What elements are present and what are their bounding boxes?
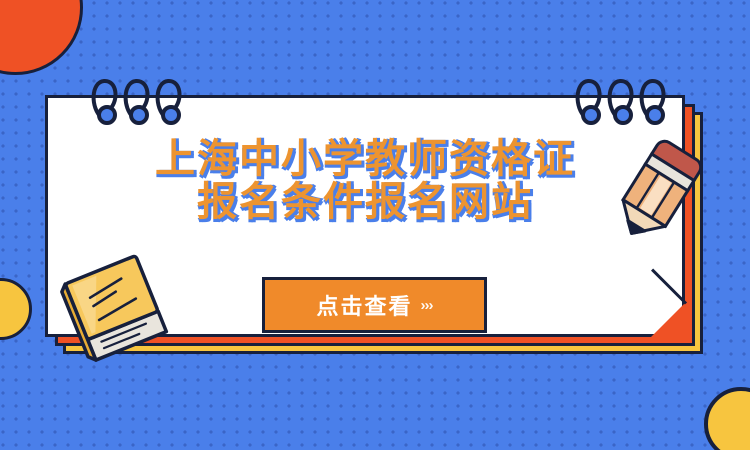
yellow-circle-left-icon (0, 278, 32, 340)
yellow-circle-right-icon (704, 387, 750, 450)
book-icon (58, 252, 178, 369)
spiral-rings-right-icon (572, 62, 672, 139)
view-details-button-label: 点击查看 (316, 289, 412, 321)
promo-poster: 上海中小学教师资格证 报名条件报名网站 点击查看 ››› (0, 0, 750, 450)
folded-corner-line-icon (651, 268, 687, 304)
spiral-rings-left-icon (88, 62, 188, 139)
red-circle-icon (0, 0, 83, 75)
folded-corner-icon (651, 303, 685, 337)
chevron-right-icon: ››› (421, 297, 433, 314)
view-details-button[interactable]: 点击查看 ››› (262, 277, 487, 333)
pencil-icon (612, 138, 704, 249)
